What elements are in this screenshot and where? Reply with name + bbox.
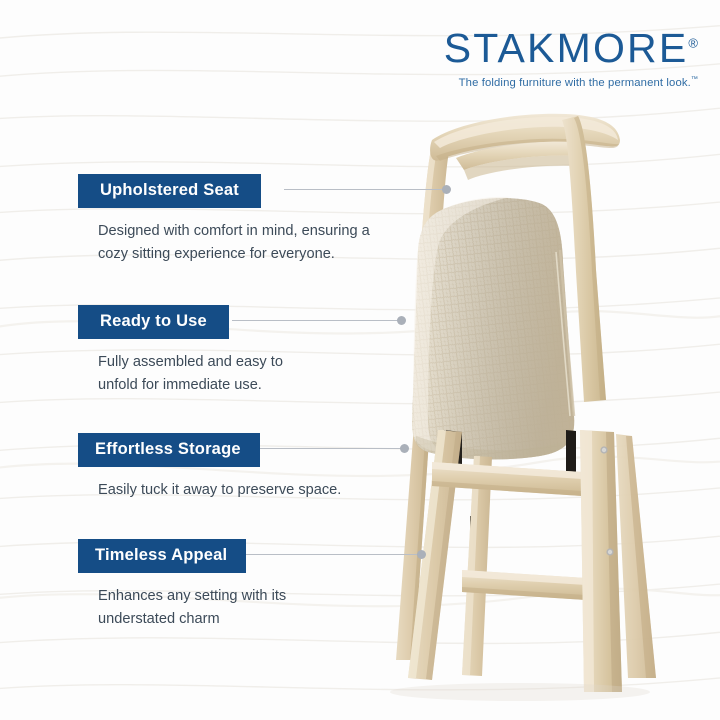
brand-tagline-text: The folding furniture with the permanent… <box>459 77 691 89</box>
brand-logo: STAKMORE® The folding furniture with the… <box>444 28 698 89</box>
trademark-icon: ™ <box>691 76 698 83</box>
feature-ready-to-use: Ready to Use Fully assembled and easy to… <box>78 305 283 397</box>
feature-effortless-storage: Effortless Storage Easily tuck it away t… <box>78 433 341 502</box>
chair-leg-rear-right <box>616 434 656 678</box>
feature-timeless-appeal: Timeless Appeal Enhances any setting wit… <box>78 539 286 631</box>
leader-dot-upholstered-seat <box>442 185 451 194</box>
brand-name: STAKMORE® <box>444 28 698 69</box>
registered-trademark-icon: ® <box>688 35 698 50</box>
product-feature-infographic: STAKMORE® The folding furniture with the… <box>0 0 720 720</box>
chair-leg-front-right <box>580 430 622 692</box>
leader-dot-effortless-storage <box>400 444 409 453</box>
product-image-folding-chair <box>370 100 710 720</box>
feature-description-effortless-storage: Easily tuck it away to preserve space. <box>98 479 341 502</box>
feature-badge-ready-to-use[interactable]: Ready to Use <box>78 305 229 339</box>
brand-tagline: The folding furniture with the permanent… <box>444 76 698 89</box>
leader-dot-ready-to-use <box>397 316 406 325</box>
feature-badge-effortless-storage[interactable]: Effortless Storage <box>78 433 260 467</box>
feature-description-ready-to-use: Fully assembled and easy to unfold for i… <box>98 351 283 396</box>
chair-upholstered-seat <box>412 197 574 460</box>
brand-name-text: STAKMORE <box>444 25 689 71</box>
feature-description-timeless-appeal: Enhances any setting with its understate… <box>98 585 286 630</box>
feature-description-upholstered-seat: Designed with comfort in mind, ensuring … <box>98 220 370 265</box>
feature-badge-timeless-appeal[interactable]: Timeless Appeal <box>78 539 246 573</box>
leader-dot-timeless-appeal <box>417 550 426 559</box>
feature-badge-upholstered-seat[interactable]: Upholstered Seat <box>78 174 261 208</box>
feature-upholstered-seat: Upholstered Seat Designed with comfort i… <box>78 174 370 266</box>
